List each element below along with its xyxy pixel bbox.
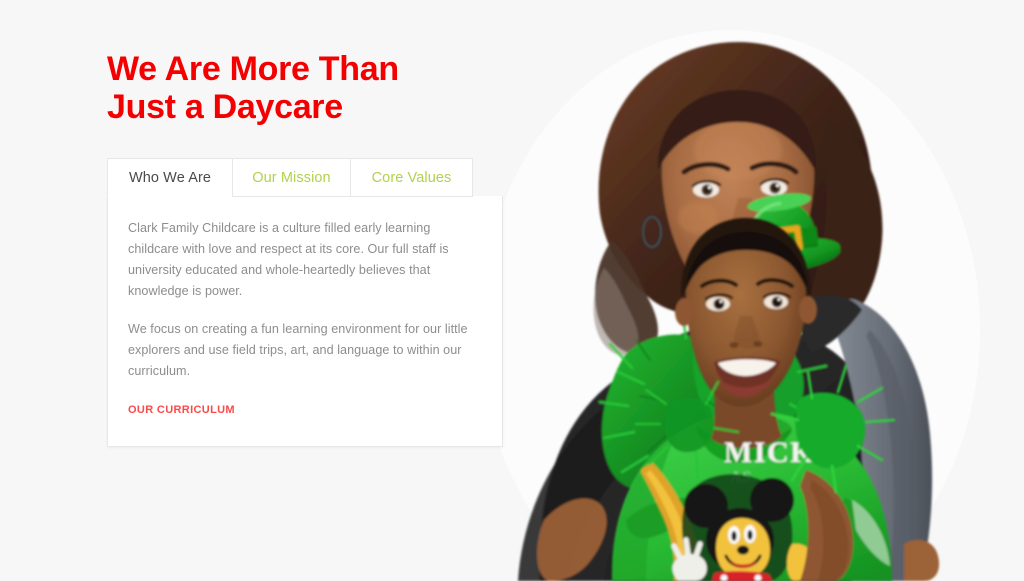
content-column: We Are More Than Just a Daycare Who We A…: [107, 0, 507, 581]
tab-our-mission-label: Our Mission: [252, 170, 330, 186]
tab-core-values-label: Core Values: [372, 170, 452, 186]
tab-who-we-are-label: Who We Are: [129, 170, 211, 186]
card-paragraph-2: We focus on creating a fun learning envi…: [128, 319, 478, 382]
tab-who-we-are[interactable]: Who We Are: [107, 158, 232, 197]
our-curriculum-link[interactable]: OUR CURRICULUM: [128, 404, 235, 416]
tab-bar: Who We Are Our Mission Core Values: [107, 158, 473, 197]
tab-panel-who-we-are: Clark Family Childcare is a culture fill…: [107, 196, 503, 447]
hero-photo-illustration: MICKE AS: [500, 0, 1024, 581]
landing-page: We Are More Than Just a Daycare Who We A…: [0, 0, 1024, 581]
tab-core-values[interactable]: Core Values: [351, 158, 473, 197]
hero-photo: MICKE AS: [500, 0, 1024, 581]
tab-our-mission[interactable]: Our Mission: [232, 158, 351, 197]
card-paragraph-1: Clark Family Childcare is a culture fill…: [128, 218, 478, 302]
page-title: We Are More Than Just a Daycare: [107, 50, 507, 126]
